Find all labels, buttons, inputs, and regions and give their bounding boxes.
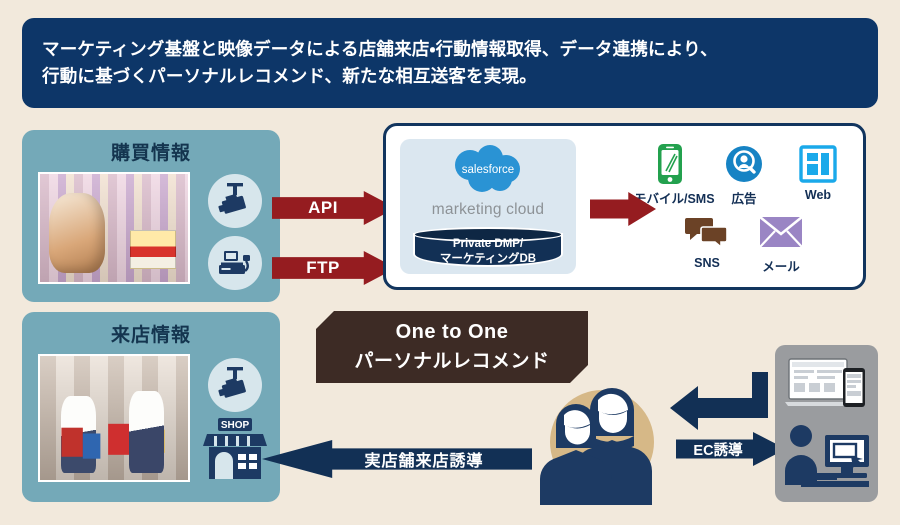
connector-api-label: API [308,198,338,218]
visit-photo [38,354,190,482]
connector-api-arrow: API [272,191,396,225]
header-line-1: マーケティング基盤と映像データによる店舗来店・行動情報取得、データ連携により、 [42,36,858,63]
channel-advertising: 広告 [708,142,780,207]
dmp-label-line1: Private DMP/ [413,237,563,252]
person-at-computer-icon [781,423,873,495]
salesforce-marketing-cloud-card: salesforce marketing cloud Private DMP/ … [400,139,576,274]
mail-icon [745,210,817,254]
advertising-icon [708,142,780,186]
shop-storefront-icon: SHOP [202,416,268,484]
header-banner: マーケティング基盤と映像データによる店舗来店・行動情報取得、データ連携により、 … [22,18,878,108]
mobile-sms-icon [634,142,706,186]
salesforce-cloud-icon: salesforce [440,145,536,197]
connector-ftp-arrow: FTP [272,251,396,285]
connector-ec-visit-label: EC誘導 [693,439,742,460]
channel-mobile-sms: モバイル/SMS [634,142,706,207]
customers-illustration [528,380,676,512]
diagram-canvas: マーケティング基盤と映像データによる店舗来店・行動情報取得、データ連携により、 … [0,0,900,525]
connector-elbow-arrow [664,372,776,438]
connector-ftp-label: FTP [306,258,340,278]
private-dmp-cylinder: Private DMP/ マーケティングDB [413,227,563,269]
channel-sns-label: SNS [671,256,743,270]
panel-ec-site [775,345,878,502]
channel-sns: SNS [671,210,743,270]
pos-register-icon [208,236,262,290]
purchase-photo [38,172,190,284]
marketing-cloud-label: marketing cloud [400,201,576,219]
one-to-one-line2: パーソナルレコメンド [354,346,549,373]
one-to-one-line1: One to One [396,321,509,344]
connector-store-visit-arrow: 実店舗来店誘導 [262,440,532,478]
security-camera-icon [208,358,262,412]
header-line-2: 行動に基づくパーソナルレコメンド、新たな相互送客を実現。 [42,63,858,90]
channel-mail: メール [745,210,817,275]
panel-visit-title: 来店情報 [22,320,280,347]
security-camera-icon [208,174,262,228]
sns-icon [671,210,743,254]
channel-web: Web [782,142,854,202]
channel-web-label: Web [782,188,854,202]
panel-visit-info: 来店情報 [22,312,280,502]
laptop-phone-mockup-icon [785,355,869,417]
connector-store-visit-label: 実店舗来店誘導 [364,447,483,471]
panel-purchase-info: 購買情報 [22,130,280,302]
dmp-label-line2: マーケティングDB [413,252,563,267]
one-to-one-recommend-banner: One to One パーソナルレコメンド [316,311,588,383]
web-icon [782,142,854,186]
salesforce-brand-text: salesforce [462,164,514,176]
channel-mail-label: メール [745,256,817,275]
svg-text:SHOP: SHOP [221,420,250,431]
channel-advertising-label: 広告 [708,188,780,207]
panel-purchase-title: 購買情報 [22,138,280,165]
